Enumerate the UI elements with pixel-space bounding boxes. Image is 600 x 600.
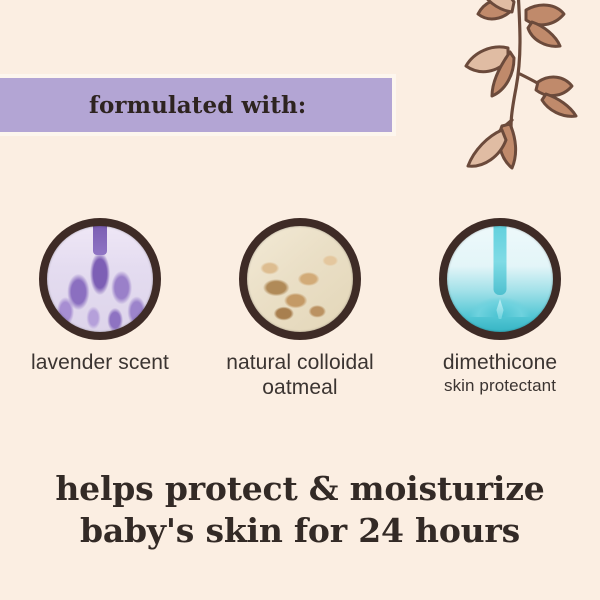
formulated-with-banner: formulated with: [0,78,392,132]
headline-line-1: helps protect & moisturize [0,468,600,510]
ingredient-oatmeal: natural colloidal oatmeal [200,218,400,400]
ingredient-label: natural colloidal oatmeal [200,350,400,400]
ingredient-label-text: natural colloidal oatmeal [226,351,374,399]
ingredient-label: dimethicone skin protectant [443,350,557,396]
ingredient-dimethicone: dimethicone skin protectant [400,218,600,400]
ingredient-lavender: lavender scent [0,218,200,400]
dimethicone-circle [439,218,561,340]
circle-ring [239,218,361,340]
ingredient-list: lavender scent natural colloidal oatmeal… [0,218,600,400]
oatmeal-circle [239,218,361,340]
circle-ring [439,218,561,340]
ingredient-label: lavender scent [31,350,169,375]
banner-label: formulated with: [89,92,306,119]
headline-line-2: baby's skin for 24 hours [0,510,600,552]
oat-sprig-icon [440,0,600,196]
ingredient-label-text: dimethicone [443,351,557,374]
ingredient-label-text: lavender scent [31,351,169,374]
lavender-circle [39,218,161,340]
circle-ring [39,218,161,340]
ingredient-sublabel: skin protectant [443,375,557,396]
page-headline: helps protect & moisturize baby's skin f… [0,468,600,552]
